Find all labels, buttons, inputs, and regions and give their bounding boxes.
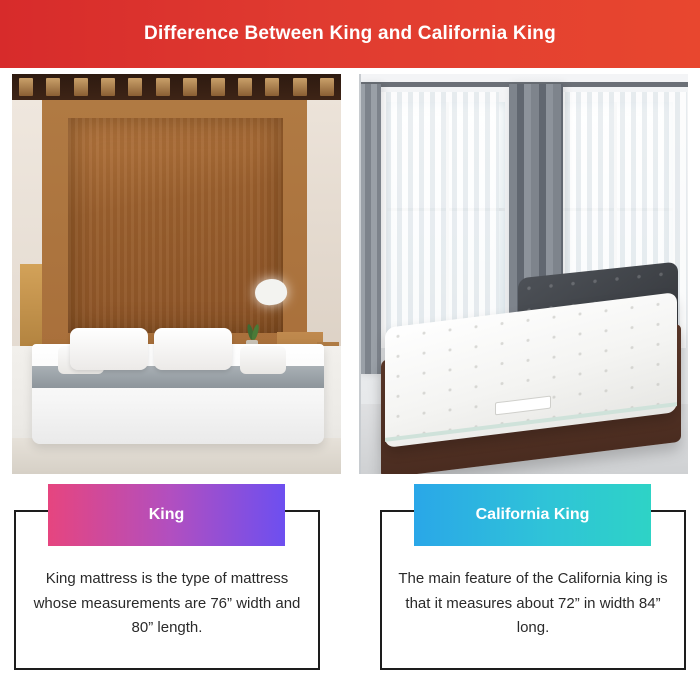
wall-right: [301, 100, 341, 350]
page-title: Difference Between King and California K…: [144, 23, 556, 45]
king-description-text: King mattress is the type of mattress wh…: [30, 567, 304, 641]
california-king-mattress-photo: [359, 74, 688, 474]
header-banner: Difference Between King and California K…: [0, 0, 700, 68]
california-king-description-text: The main feature of the California king …: [396, 567, 670, 641]
king-label: King: [149, 506, 185, 524]
ceiling-slats: [12, 78, 341, 98]
images-row: [12, 74, 688, 474]
pillow-left: [70, 328, 148, 370]
sheer-curtain-left: [369, 92, 499, 348]
california-king-label-banner: California King: [414, 484, 651, 546]
pillow-small-right: [240, 346, 286, 374]
curtain-far-left: [359, 84, 381, 374]
photo-divider: [359, 74, 361, 474]
california-king-label: California King: [476, 506, 590, 524]
king-bedroom-photo: [12, 74, 341, 474]
wood-headboard: [68, 118, 283, 333]
king-label-banner: King: [48, 484, 285, 546]
infographic-root: Difference Between King and California K…: [0, 0, 700, 700]
pillow-right: [154, 328, 232, 370]
